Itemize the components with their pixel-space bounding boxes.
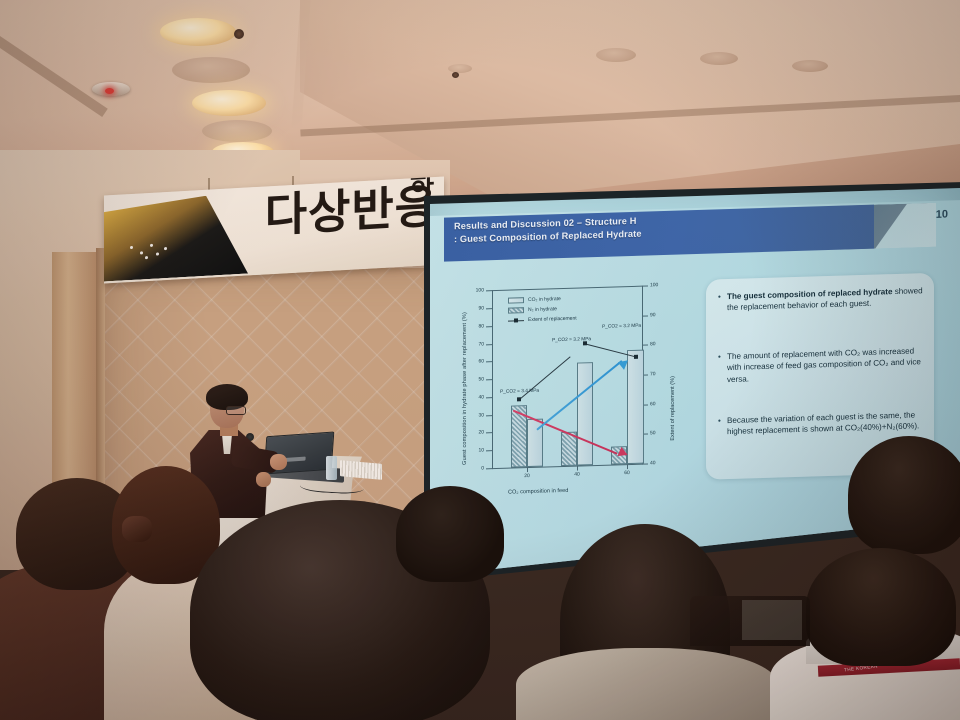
ceiling-downlight-off-4 [700, 52, 738, 65]
legend-label-extent: Extent of replacement [528, 316, 577, 323]
chart-xlabel: CO₂ composition in feed [508, 488, 568, 496]
detector-led-icon [105, 88, 114, 94]
extent-point-60 [634, 355, 638, 359]
legend-label-n2: N₂ in hydrate [528, 306, 557, 313]
bullet-2: • The amount of replacement with CO₂ was… [718, 345, 924, 386]
legend-item-co2: CO₂ in hydrate [508, 296, 577, 304]
chair-label [742, 600, 802, 640]
ceiling-downlight-off-1 [172, 57, 250, 83]
y2tick-90: 90 [650, 312, 670, 319]
y2tick-40: 40 [650, 460, 670, 467]
ceiling-downlight-off-5 [792, 60, 828, 72]
banner-stars-icon [126, 242, 172, 261]
legend-swatch-co2-icon [508, 297, 524, 303]
presenter-glasses-icon [226, 406, 246, 415]
xtick-20: 20 [517, 473, 537, 480]
chart: Guest composition in hydrate phase after… [456, 276, 686, 508]
bullet-marker-2: • [718, 351, 727, 386]
audience-member-4-shoulders [516, 648, 778, 720]
bullet-1-text: The guest composition of replaced hydrat… [727, 285, 924, 314]
legend-label-co2: CO₂ in hydrate [528, 296, 561, 303]
ytick-50: 50 [464, 376, 484, 383]
ceiling-downlight-on-2 [192, 90, 266, 116]
bullet-marker-3: • [718, 415, 727, 438]
ytick-0: 0 [464, 465, 484, 472]
bar-co2-60 [627, 350, 644, 465]
chart-legend: CO₂ in hydrate N₂ in hydrate Extent of r… [508, 296, 577, 328]
smoke-detector-icon [92, 82, 130, 96]
presenter-hand-right [270, 454, 287, 470]
y2tick-100: 100 [650, 282, 670, 289]
legend-item-n2: N₂ in hydrate [508, 306, 577, 314]
sprinkler-icon [234, 29, 244, 39]
bullet-1: • The guest composition of replaced hydr… [718, 285, 924, 314]
presenter-hand-left [256, 472, 271, 487]
bullet-3: • Because the variation of each guest is… [718, 409, 924, 438]
y2tick-70: 70 [650, 371, 670, 378]
ytick-10: 10 [464, 447, 484, 454]
bullet-3-text: Because the variation of each guest is t… [727, 409, 924, 438]
sprinkler-icon-3 [452, 72, 459, 78]
bullet-2-text: The amount of replacement with CO₂ was i… [727, 345, 924, 385]
ytick-100: 100 [464, 287, 484, 294]
audience-member-2-hair-clip [122, 516, 152, 542]
xtick-60: 60 [617, 470, 637, 477]
bullet-marker-1: • [718, 291, 727, 314]
ytick-90: 90 [464, 305, 484, 312]
y2tick-60: 60 [650, 401, 670, 408]
slide-number: 10 [936, 208, 948, 220]
audience-member-6-head [848, 436, 960, 554]
ytick-30: 30 [464, 412, 484, 419]
legend-swatch-n2-icon [508, 307, 524, 313]
water-bottle [326, 456, 337, 480]
audience-member-5-head [396, 486, 504, 582]
y2tick-80: 80 [650, 341, 670, 348]
ceiling-downlight-off-2 [202, 120, 272, 142]
chart-ylabel-right: Extent of replacement (%) [670, 311, 676, 441]
ceiling-downlight-off-3 [596, 48, 636, 62]
ytick-40: 40 [464, 394, 484, 401]
bar-co2-40 [577, 362, 593, 465]
y2tick-50: 50 [650, 430, 670, 437]
audience-member-7-head [806, 548, 956, 666]
ytick-20: 20 [464, 429, 484, 436]
conference-photo-scene: 다상반응 하 Results and Discussion 02 – Struc… [0, 0, 960, 720]
ytick-70: 70 [464, 341, 484, 348]
legend-item-extent: Extent of replacement [508, 316, 577, 324]
extent-point-20 [517, 397, 521, 401]
ceiling-downlight-off-6 [448, 64, 472, 73]
ceiling-downlight-on-1 [160, 18, 236, 46]
xtick-40: 40 [567, 471, 587, 478]
legend-swatch-extent-icon [508, 317, 524, 323]
banner-artwork [104, 193, 248, 281]
ytick-60: 60 [464, 358, 484, 365]
ytick-80: 80 [464, 323, 484, 330]
